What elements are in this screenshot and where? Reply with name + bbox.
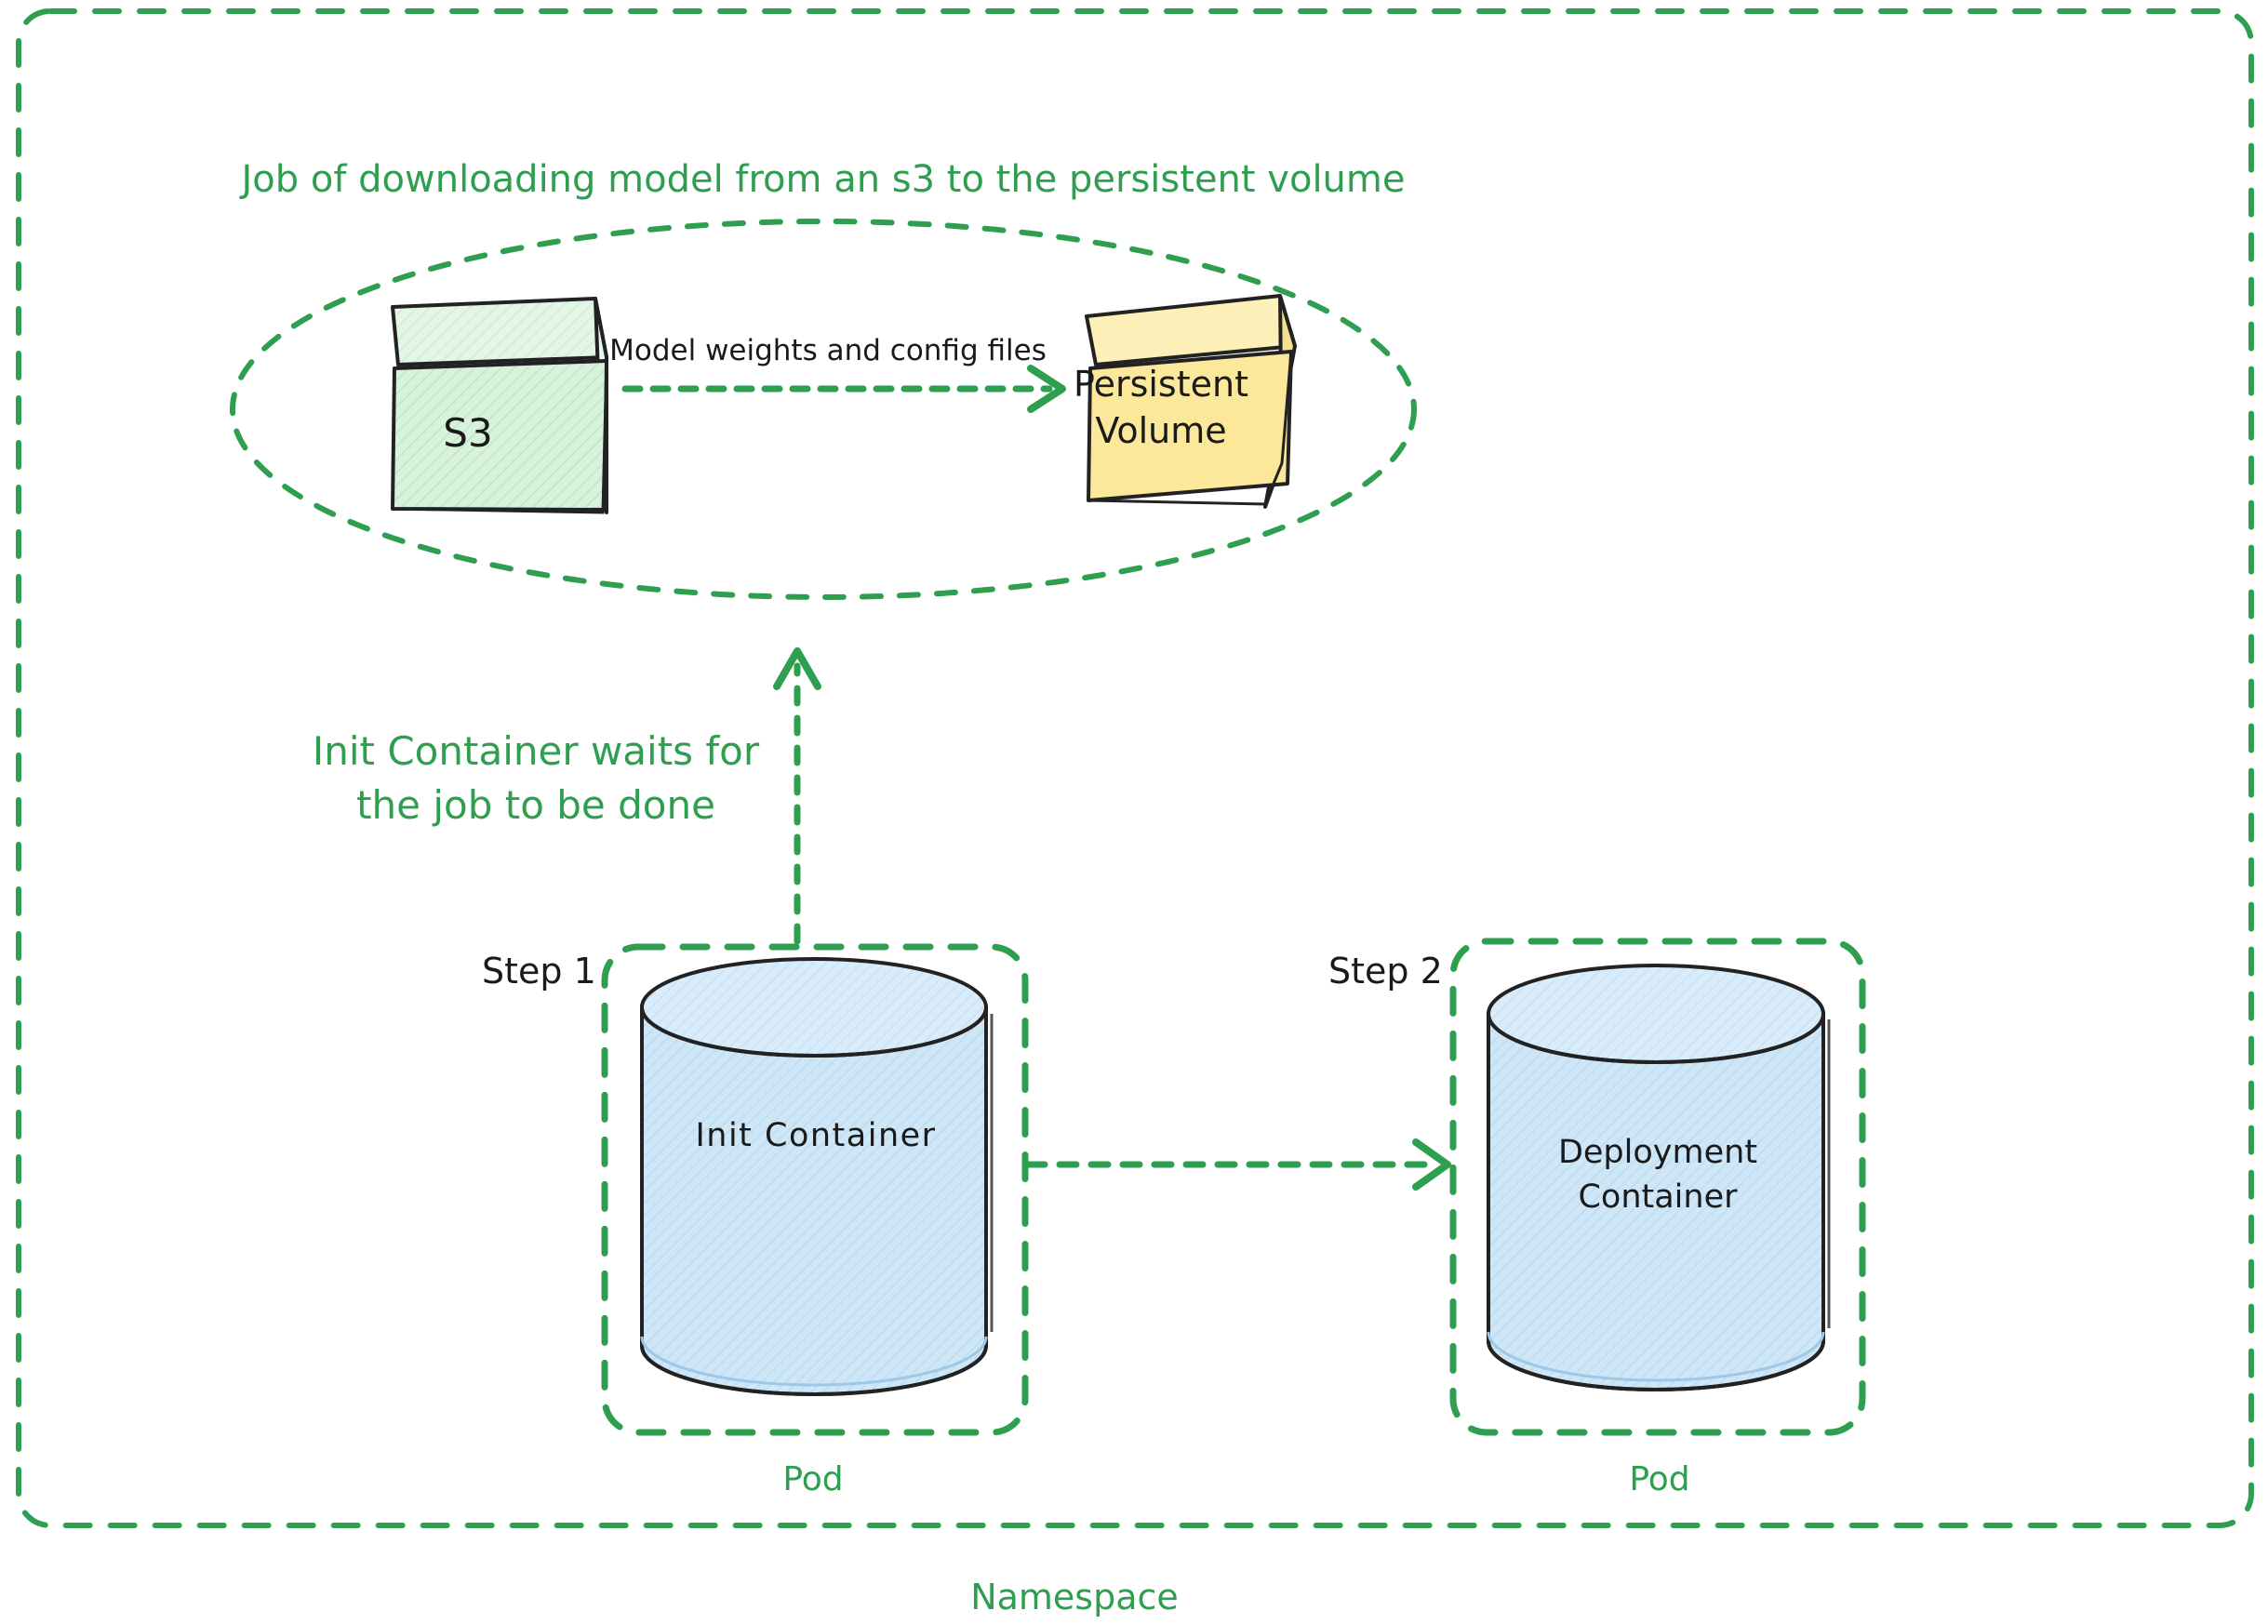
pod-to-pod-arrow [1028, 1142, 1448, 1187]
diagram-canvas: Job of downloading model from an s3 to t… [0, 0, 2268, 1624]
step-1-label: Step 1 [482, 950, 596, 994]
init-container-cylinder [642, 959, 992, 1394]
diagram-svg [0, 0, 2268, 1624]
s3-cube-label: S3 [443, 409, 492, 459]
step-2-label: Step 2 [1328, 950, 1443, 994]
pod-2-label: Pod [1629, 1458, 1689, 1500]
init-container-label: Init Container [695, 1116, 936, 1157]
wait-arrow-label-line2: the job to be done [356, 781, 715, 831]
namespace-label: Namespace [970, 1576, 1179, 1620]
persistent-volume-label-line2: Volume [1095, 409, 1226, 454]
pod-1-label: Pod [782, 1458, 843, 1500]
wait-arrow-label-line1: Init Container waits for [313, 727, 759, 777]
s3-cube [393, 299, 607, 512]
transfer-arrow [625, 368, 1062, 409]
job-caption: Job of downloading model from an s3 to t… [242, 156, 1406, 203]
wait-arrow [777, 651, 818, 941]
transfer-arrow-label: Model weights and config files [609, 333, 1047, 369]
deployment-container-label-line2: Container [1578, 1178, 1737, 1218]
deployment-container-label-line1: Deployment [1558, 1133, 1757, 1174]
persistent-volume-label-line1: Persistent [1074, 363, 1248, 407]
